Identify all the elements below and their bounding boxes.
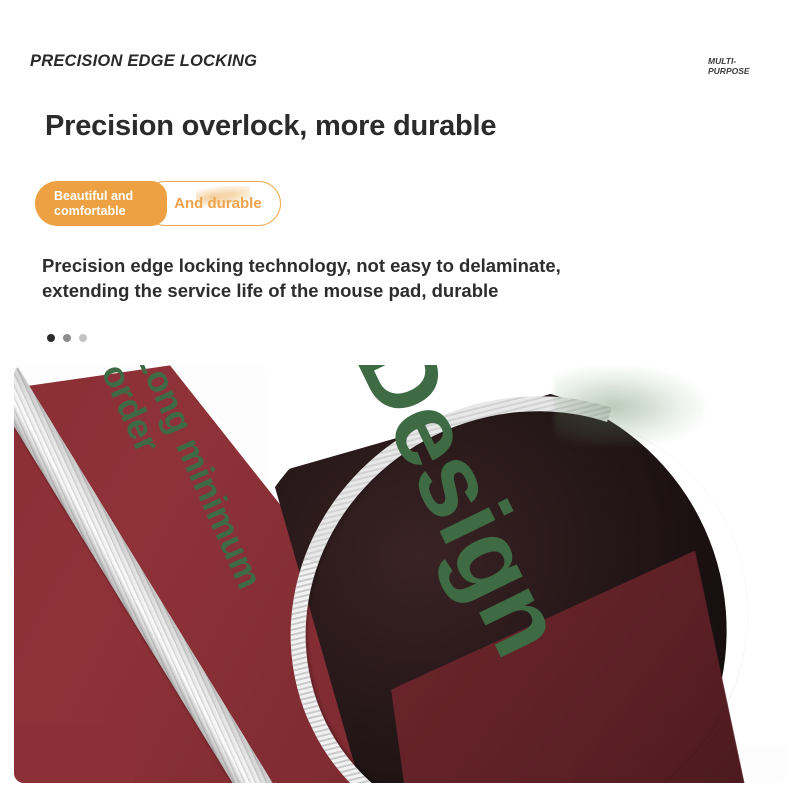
badge-primary-line-1: Beautiful and <box>54 189 133 204</box>
header: PRECISION EDGE LOCKING MULTI- PURPOSE <box>0 52 800 88</box>
carousel-dot-2[interactable] <box>63 334 71 342</box>
carousel-indicator[interactable] <box>47 334 87 342</box>
description-line-2: extending the service life of the mouse … <box>42 279 762 304</box>
carousel-dot-1[interactable] <box>47 334 55 342</box>
badge-primary-segment: Beautiful and comfortable <box>35 181 167 226</box>
corner-tag-line-1: MULTI- <box>708 56 772 66</box>
product-photo[interactable]: Long minimum order Design <box>14 365 786 783</box>
mousepad-corner-fill <box>14 723 134 783</box>
photo-canvas: Long minimum order Design <box>14 365 786 783</box>
badge-secondary-label: And durable <box>174 195 262 212</box>
badge-primary-line-2: comfortable <box>54 204 133 219</box>
product-detail-page: PRECISION EDGE LOCKING MULTI- PURPOSE Pr… <box>0 0 800 800</box>
description-line-1: Precision edge locking technology, not e… <box>42 254 762 279</box>
corner-tag: MULTI- PURPOSE <box>708 56 772 76</box>
description-text: Precision edge locking technology, not e… <box>42 254 762 303</box>
feature-badge: Beautiful and comfortable And durable <box>35 181 281 226</box>
page-title: Precision overlock, more durable <box>45 110 496 143</box>
corner-tag-line-2: PURPOSE <box>708 66 772 76</box>
carousel-dot-3[interactable] <box>79 334 87 342</box>
photo-green-haze <box>554 367 704 447</box>
page-kicker: PRECISION EDGE LOCKING <box>30 52 257 71</box>
